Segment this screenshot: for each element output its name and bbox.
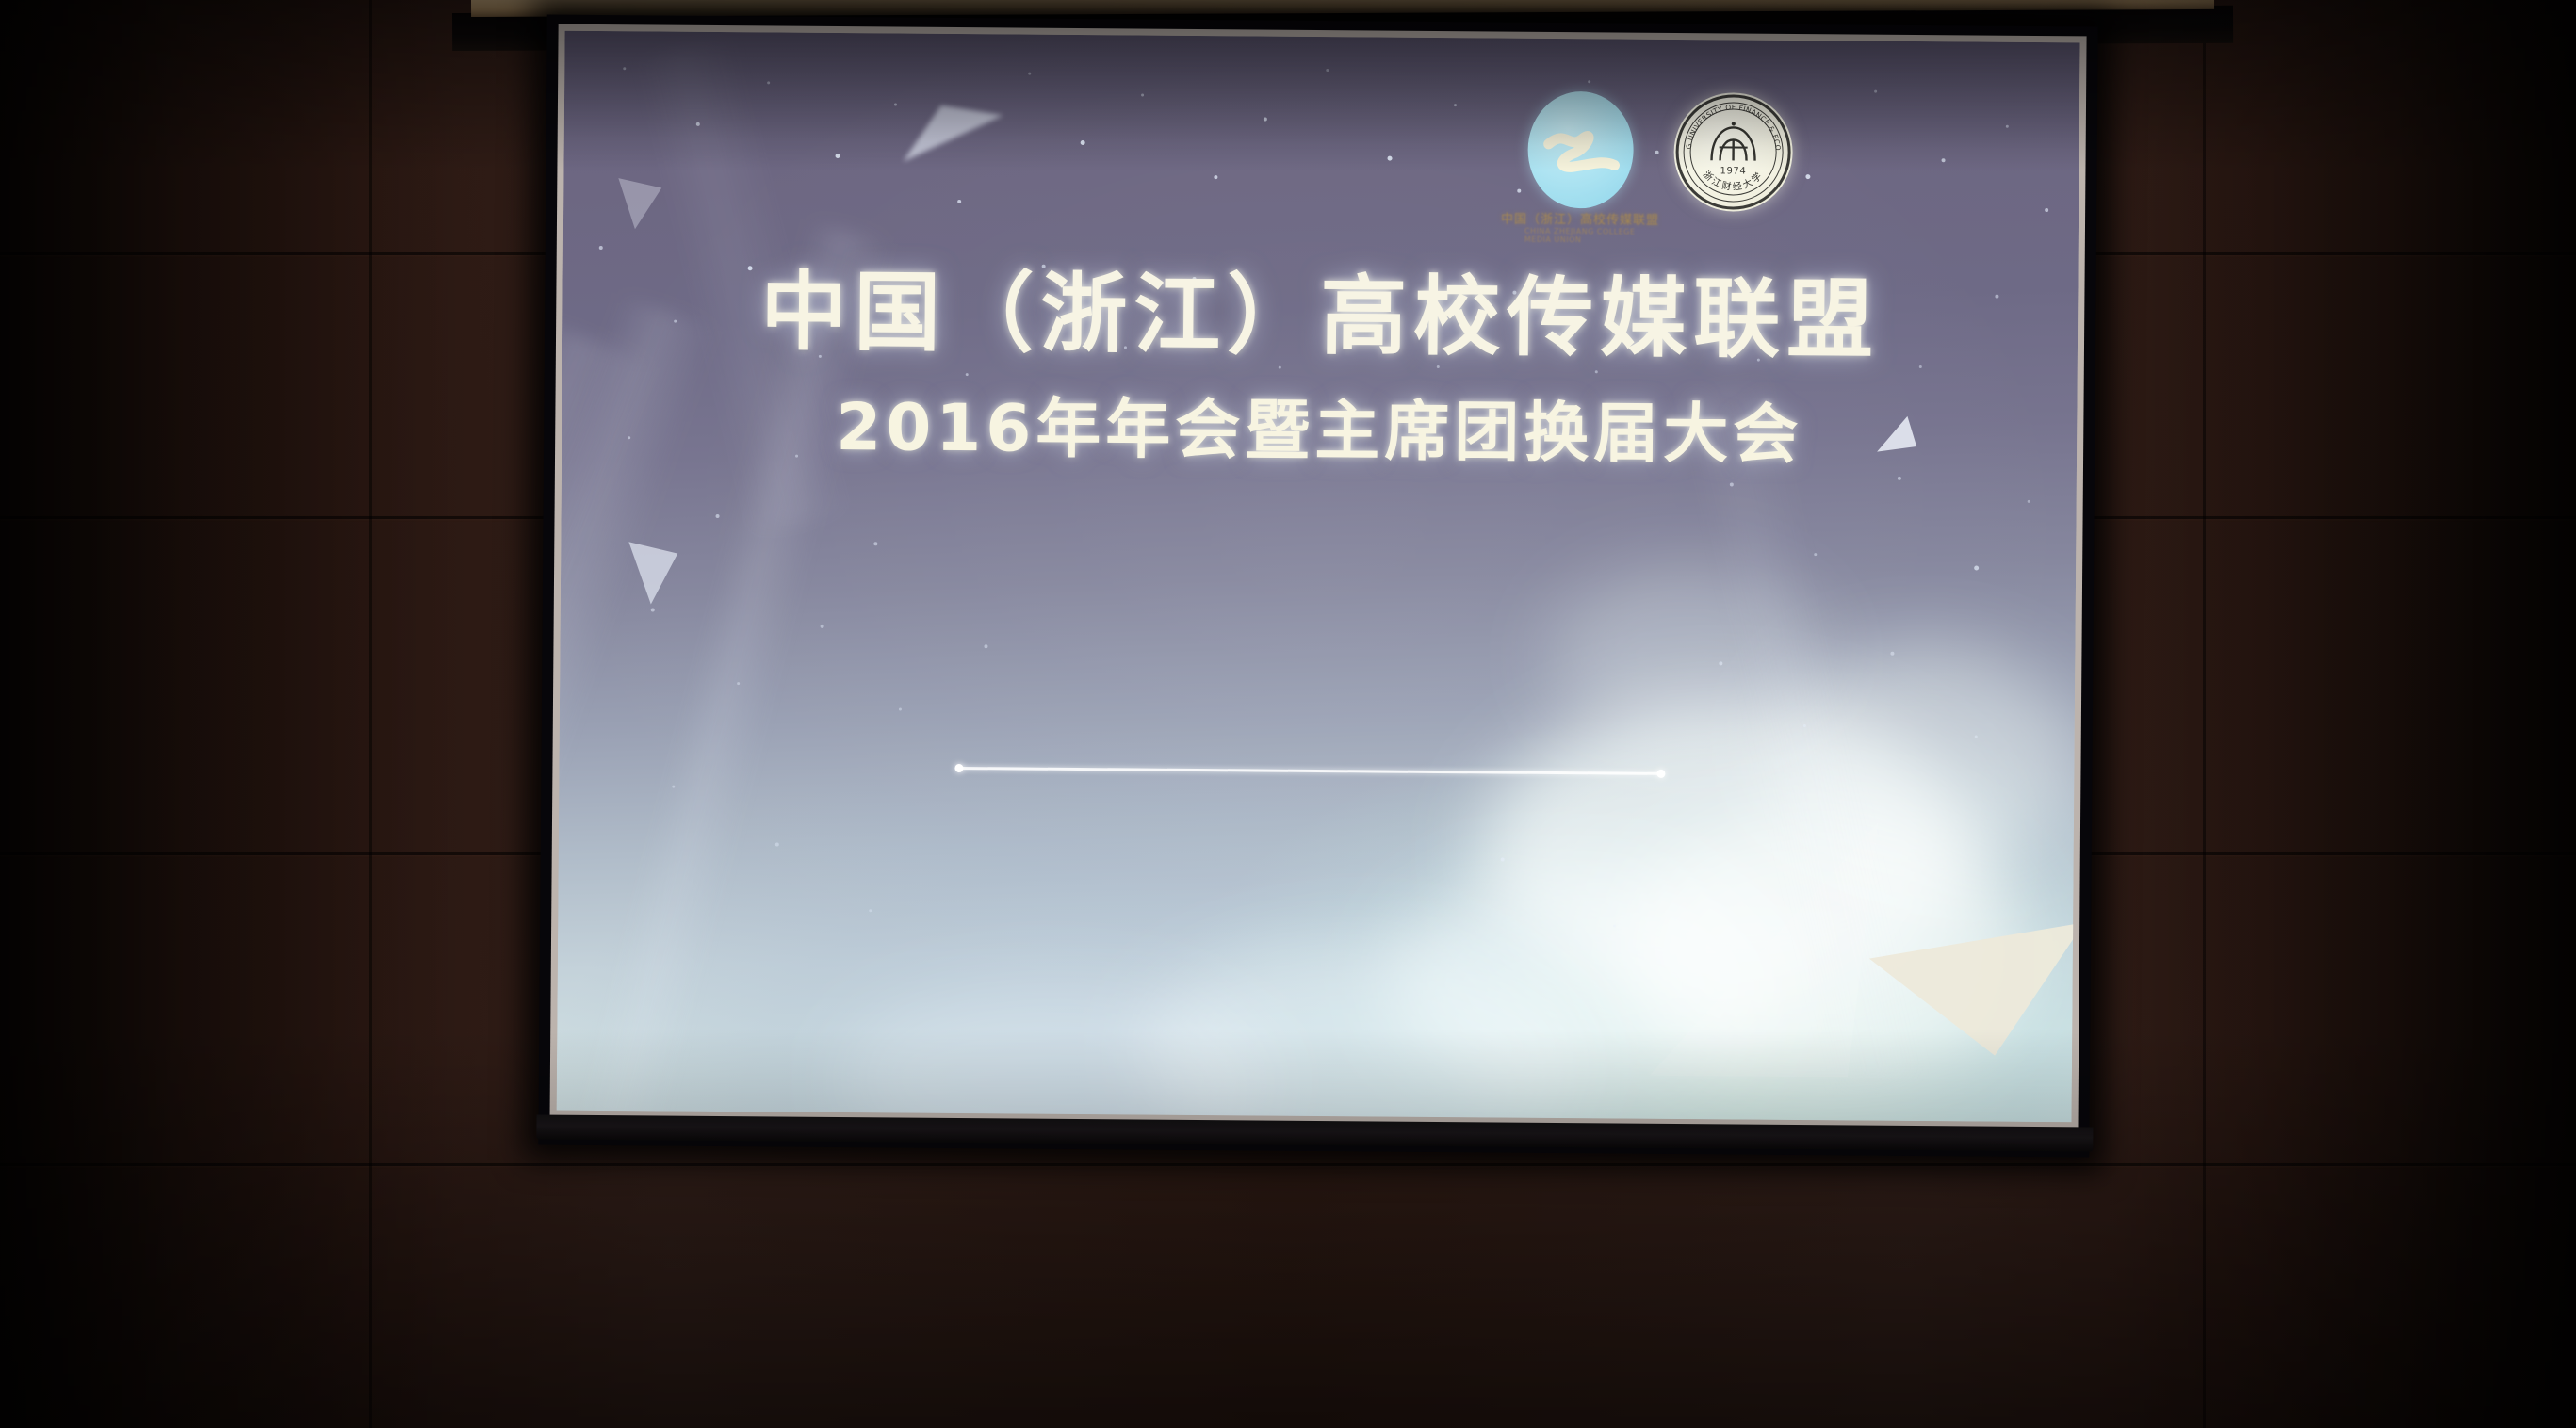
star [1326,69,1329,72]
room-wall: 中国（浙江）高校传媒联盟 CHINA ZHEJIANG COLLEGE MEDI… [0,0,2576,1428]
star [1805,174,1810,179]
star [1214,175,1217,179]
star [1517,189,1521,193]
slide-title: 中国（浙江）高校传媒联盟 [562,240,2079,378]
star [1388,156,1393,161]
star [1613,924,1616,927]
seal-arc-text: ZHEJIANG UNIVERSITY OF FINANCE & ECONOMI… [1673,92,1793,212]
star [821,625,824,628]
star [1588,80,1590,83]
faint-triangle-icon [1650,793,1878,1078]
star [1501,858,1505,862]
star [1814,553,1817,556]
star [869,909,872,912]
star [651,608,655,611]
union-logo: 中国（浙江）高校传媒联盟 CHINA ZHEJIANG COLLEGE MEDI… [1524,91,1637,245]
union-logo-caption-sub: CHINA ZHEJIANG COLLEGE MEDIA UNION [1524,227,1636,245]
star [623,67,626,70]
star [775,842,779,846]
star [873,542,877,545]
wall-panel-seam [0,1163,2576,1166]
star [1803,724,1806,727]
down-triangle-icon [623,530,682,608]
university-seal-logo-icon: ZHEJIANG UNIVERSITY OF FINANCE & ECONOMI… [1673,92,1793,212]
star [1730,482,1734,486]
star [737,682,740,685]
screen-surface: 中国（浙江）高校传媒联盟 CHINA ZHEJIANG COLLEGE MEDI… [557,31,2080,1123]
zhejiang-river-circle-logo-icon [1527,91,1634,209]
star [2045,208,2048,212]
star [672,786,675,788]
star [1264,118,1267,122]
star [1898,477,1901,480]
star [957,200,961,203]
star [1454,104,1457,106]
wall-panel-seam [369,0,372,1428]
star [1874,90,1877,93]
star [984,644,987,648]
svg-text:1974: 1974 [1720,166,1746,176]
star [2028,500,2030,503]
star [1141,94,1144,97]
star [767,81,770,84]
screen-fabric-border: 中国（浙江）高校传媒联盟 CHINA ZHEJIANG COLLEGE MEDI… [550,24,2087,1129]
union-logo-caption: 中国（浙江）高校传媒联盟 [1501,214,1659,229]
logo-row: 中国（浙江）高校传媒联盟 CHINA ZHEJIANG COLLEGE MEDI… [1524,91,1793,247]
star [2006,125,2009,128]
star [716,514,720,518]
star [1719,661,1722,665]
star [1974,565,1979,570]
down-triangle-icon [616,174,663,231]
star [899,708,902,711]
star [836,154,840,158]
slide-subtitle: 2016年年会暨主席团换届大会 [562,372,2078,479]
paper-plane-triangle-icon [891,88,1005,173]
star [696,122,700,126]
star [1081,140,1085,145]
star [1942,158,1946,162]
projection-screen: 中国（浙江）高校传媒联盟 CHINA ZHEJIANG COLLEGE MEDI… [549,24,2086,1144]
slide-background: 中国（浙江）高校传媒联盟 CHINA ZHEJIANG COLLEGE MEDI… [557,31,2080,1123]
wall-panel-seam [2203,0,2206,1428]
star [1890,652,1894,656]
star [1975,735,1978,738]
star [1028,73,1031,75]
